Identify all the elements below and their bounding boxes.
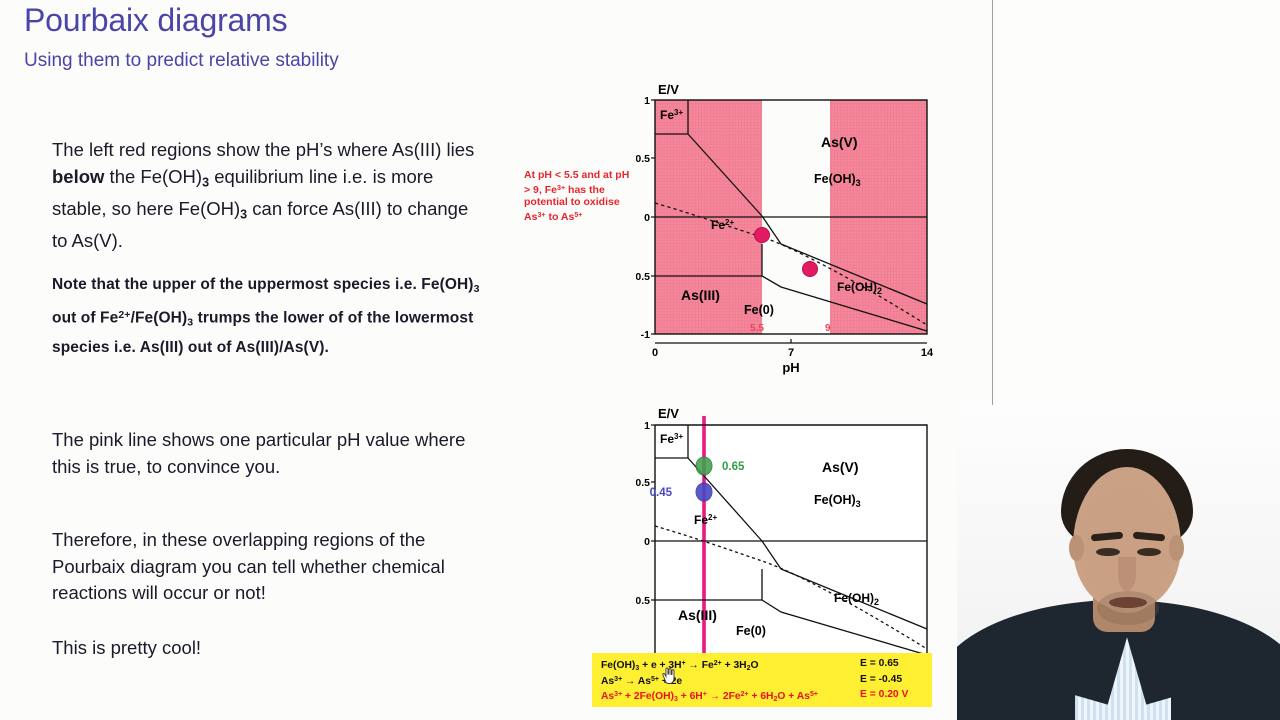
ytick-m0p5: -0.5 [636, 271, 650, 283]
label-feoh3: Fe(OH)3 [814, 172, 861, 188]
green-point-label: 0.65 [722, 461, 745, 473]
ytick-0: 0 [644, 212, 650, 224]
paragraph-1: The left red regions show the pH’s where… [52, 137, 482, 254]
presenter-ear-left [1069, 535, 1084, 561]
label-as-v-bottom: As(V) [822, 459, 859, 475]
label-feoh3-bottom: Fe(OH)3 [814, 493, 861, 509]
xtick-14: 14 [921, 347, 934, 359]
y-axis-title-top: E/V [658, 82, 679, 97]
equation-row-2: As3+ → As5+ + 2e E = -0.45 [598, 672, 926, 688]
label-as-v: As(V) [821, 134, 858, 150]
blue-point [696, 483, 712, 501]
equation-1-potential: E = 0.65 [860, 656, 899, 672]
label-feoh2: Fe(OH)2 [837, 280, 882, 296]
equation-3-lhs: As3+ + 2Fe(OH)3 + 6H+ → 2Fe2+ + 6H2O + A… [601, 687, 818, 707]
mouse-cursor-icon [660, 666, 676, 686]
region-marker-9: 9 [825, 323, 831, 334]
equation-row-1: Fe(OH)3 + e + 3H+ → Fe2+ + 3H2O E = 0.65 [598, 656, 926, 672]
ytick-m0p5-bottom: -0.5 [636, 595, 650, 607]
presenter-eye-left [1096, 548, 1120, 556]
blue-point-label: 0.45 [650, 487, 673, 499]
green-point [696, 457, 712, 475]
label-as-iii: As(III) [681, 287, 720, 303]
paragraph-2: Note that the upper of the uppermost spe… [52, 272, 482, 361]
equation-row-3: As3+ + 2Fe(OH)3 + 6H+ → 2Fe2+ + 6H2O + A… [598, 687, 926, 703]
label-fe0-bottom: Fe(0) [736, 624, 766, 638]
equation-3-potential: E = 0.20 V [860, 687, 908, 703]
paragraph-4: Therefore, in these overlapping regions … [52, 527, 482, 607]
ytick-0p5-bottom: 0.5 [636, 477, 650, 489]
pourbaix-chart-top: Fe3+ As(V) Fe(OH)3 Fe2+ Fe(OH)2 As(III) … [636, 82, 946, 377]
red-annotation: At pH < 5.5 and at pH > 9, Fe3+ has the … [524, 169, 636, 223]
slide-pane: Pourbaix diagrams Using them to predict … [0, 0, 993, 720]
ytick-0p5: 0.5 [636, 153, 650, 165]
equation-2-potential: E = -0.45 [860, 672, 902, 688]
ytick-0-bottom: 0 [644, 536, 650, 548]
screen: Pourbaix diagrams Using them to predict … [0, 0, 1280, 720]
intersection-point-1 [755, 228, 770, 243]
presenter-webcam[interactable] [957, 405, 1280, 720]
ytick-m1: -1 [641, 329, 650, 341]
region-marker-5p5: 5.5 [750, 323, 764, 334]
pourbaix-chart-bottom: 0.65 0.45 Fe3+ As(V) Fe(OH)3 Fe2+ Fe(OH)… [636, 396, 946, 656]
label-as-iii-bottom: As(III) [678, 607, 717, 623]
intersection-point-2 [803, 262, 818, 277]
presenter-nose [1118, 557, 1136, 591]
presenter-mouth [1109, 597, 1147, 608]
paragraph-3: The pink line shows one particular pH va… [52, 427, 482, 480]
page-title: Pourbaix diagrams [24, 2, 287, 39]
page-subtitle: Using them to predict relative stability [24, 50, 339, 72]
paragraph-5: This is pretty cool! [52, 635, 482, 662]
ytick-1-bottom: 1 [644, 420, 650, 432]
ytick-1: 1 [644, 95, 650, 107]
presenter-ear-right [1169, 535, 1184, 561]
x-axis-title-top: pH [782, 360, 799, 375]
y-axis-title-bottom: E/V [658, 406, 679, 421]
label-fe0: Fe(0) [744, 303, 774, 317]
xtick-7: 7 [788, 347, 794, 359]
label-feoh2-bottom: Fe(OH)2 [834, 591, 879, 607]
presenter-eye-right [1137, 548, 1161, 556]
equation-box: Fe(OH)3 + e + 3H+ → Fe2+ + 3H2O E = 0.65… [592, 653, 932, 707]
xtick-0: 0 [652, 347, 658, 359]
